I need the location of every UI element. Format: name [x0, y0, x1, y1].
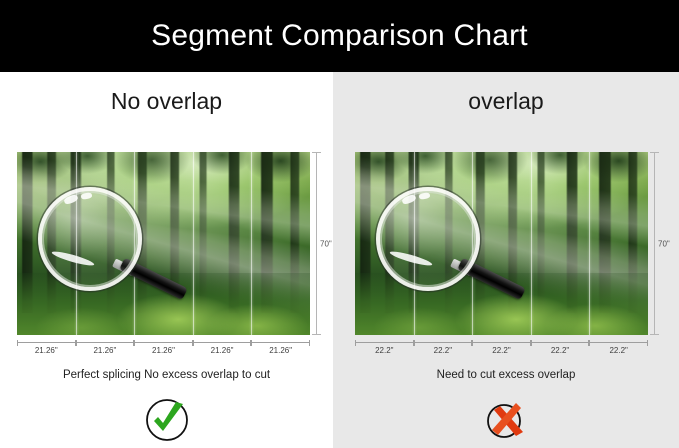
panel-no-overlap: No overlap	[0, 72, 333, 448]
segment-dimension: 21.26"	[251, 340, 310, 362]
dimension-line	[17, 342, 76, 343]
forest-image-overlap	[355, 152, 648, 335]
width-dimensions-no-overlap: 21.26" 21.26" 21.26"	[17, 340, 310, 362]
caption-no-overlap: Perfect splicing No excess overlap to cu…	[0, 369, 333, 381]
dimension-line	[414, 342, 473, 343]
dimension-line	[472, 342, 531, 343]
segment-width-label: 21.26"	[193, 346, 252, 355]
title-banner: Segment Comparison Chart	[0, 0, 679, 72]
segment-dimension: 22.2"	[414, 340, 473, 362]
dimension-line	[251, 342, 310, 343]
dimension-line	[531, 342, 590, 343]
segment-dimension: 22.2"	[355, 340, 414, 362]
segment-seam	[414, 152, 415, 335]
dimension-line	[193, 342, 252, 343]
height-label: 70"	[658, 239, 670, 248]
panel-heading-overlap: overlap	[333, 88, 679, 115]
dimension-tick	[312, 152, 321, 153]
forest-photo	[355, 152, 648, 335]
dimension-line	[134, 342, 193, 343]
dimension-line	[316, 152, 317, 335]
segment-width-label: 22.2"	[589, 346, 648, 355]
segment-width-label: 21.26"	[251, 346, 310, 355]
comparison-panels: No overlap	[0, 72, 679, 448]
segment-width-label: 21.26"	[76, 346, 135, 355]
height-dimension-overlap: 70"	[650, 152, 672, 335]
photo-shading	[17, 152, 310, 335]
height-label: 70"	[320, 239, 332, 248]
segment-seam	[531, 152, 532, 335]
segment-dimension: 21.26"	[76, 340, 135, 362]
segment-seam	[193, 152, 194, 335]
segment-width-label: 22.2"	[414, 346, 473, 355]
page-title: Segment Comparison Chart	[0, 0, 679, 72]
caption-overlap: Need to cut excess overlap	[333, 369, 679, 381]
segment-seam	[76, 152, 77, 335]
dimension-line	[355, 342, 414, 343]
panel-heading-no-overlap: No overlap	[0, 88, 333, 115]
segment-width-label: 22.2"	[472, 346, 531, 355]
segment-width-label: 22.2"	[531, 346, 590, 355]
dimension-line	[654, 152, 655, 335]
segment-width-label: 21.26"	[17, 346, 76, 355]
segment-width-label: 22.2"	[355, 346, 414, 355]
dimension-line	[76, 342, 135, 343]
segment-seam	[134, 152, 135, 335]
segment-dimension: 22.2"	[472, 340, 531, 362]
height-dimension-no-overlap: 70"	[312, 152, 334, 335]
red-cross-icon	[483, 397, 529, 443]
segment-dimension: 22.2"	[589, 340, 648, 362]
panel-overlap: overlap	[333, 72, 679, 448]
photo-shading	[355, 152, 648, 335]
segment-comparison-chart-page: Segment Comparison Chart No overlap	[0, 0, 679, 448]
verdict-no-overlap	[0, 394, 333, 446]
segment-dimension: 21.26"	[134, 340, 193, 362]
segment-dimension: 21.26"	[17, 340, 76, 362]
forest-image-no-overlap	[17, 152, 310, 335]
segment-dimension: 22.2"	[531, 340, 590, 362]
segment-seam	[251, 152, 252, 335]
dimension-tick	[312, 334, 321, 335]
green-check-icon	[144, 397, 190, 443]
segment-seam	[472, 152, 473, 335]
segment-dimension: 21.26"	[193, 340, 252, 362]
segment-width-label: 21.26"	[134, 346, 193, 355]
forest-photo	[17, 152, 310, 335]
width-dimensions-overlap: 22.2" 22.2" 22.2"	[355, 340, 648, 362]
dimension-tick	[650, 334, 659, 335]
dimension-line	[589, 342, 648, 343]
verdict-overlap	[333, 394, 679, 446]
dimension-tick	[650, 152, 659, 153]
segment-seam	[589, 152, 590, 335]
